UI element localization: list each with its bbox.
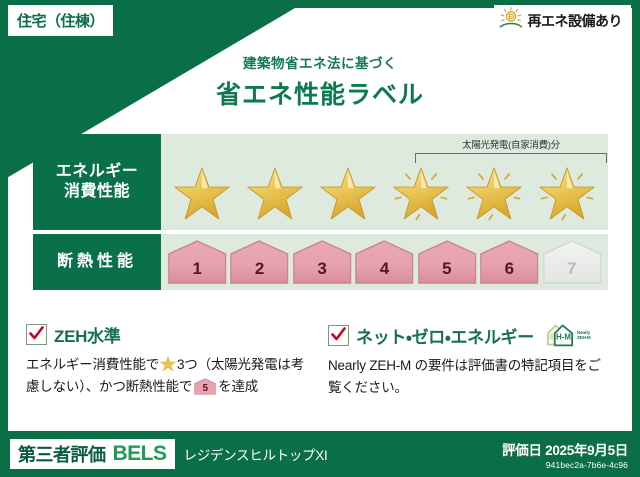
inline-star-icon xyxy=(160,356,176,372)
star-slot-solar xyxy=(536,164,598,224)
building-category-tab: 住宅（住棟） xyxy=(8,5,113,36)
star-icon-solar xyxy=(538,166,596,222)
criteria-section: ZEH水準 エネルギー消費性能で3つ（太陽光発電は考慮しない）、かつ断熱性能で5… xyxy=(26,322,614,399)
energy-performance-row: エネルギー 消費性能 太陽光発電(自家消費)分 xyxy=(33,134,608,230)
evaluation-info: 評価日 2025年9月5日 941bec2a-7b6e-4c96 xyxy=(502,439,628,470)
energy-label-line1: エネルギー xyxy=(56,162,139,182)
solar-annotation-caption: 太陽光発電(自家消費)分 xyxy=(415,137,607,151)
insulation-performance-row: 断熱性能 xyxy=(33,234,608,290)
building-category-label: 住宅（住棟） xyxy=(17,10,104,31)
insulation-level-badge: 6 xyxy=(479,239,539,285)
insulation-rating-area: 1 2 3 xyxy=(161,234,608,290)
criterion-text-suffix: を達成 xyxy=(218,379,258,394)
label-footer: 第三者評価 BELS レジデンスヒルトップXI 評価日 2025年9月5日 94… xyxy=(0,431,640,477)
insulation-level-badge: 4 xyxy=(354,239,414,285)
solar-generation-annotation: 太陽光発電(自家消費)分 xyxy=(415,137,607,163)
criterion-header: ネット・ゼロ・エネルギー H-M Nearly ZEH-M xyxy=(328,322,614,348)
energy-performance-row-label: エネルギー 消費性能 xyxy=(33,134,161,230)
criterion-body: Nearly ZEH-M の要件は評価書の特記項目をご覧ください。 xyxy=(328,355,614,399)
insulation-level-badge: 2 xyxy=(229,239,289,285)
insulation-label: 断熱性能 xyxy=(57,252,137,272)
star-icon xyxy=(173,166,231,222)
criterion-header: ZEH水準 xyxy=(26,322,312,347)
criterion-text-prefix: エネルギー消費性能で xyxy=(26,357,159,372)
bels-jp-label: 第三者評価 xyxy=(18,441,106,467)
inline-house-icon: 5 xyxy=(194,378,216,395)
energy-label-line2: 消費性能 xyxy=(64,182,130,202)
insulation-level-number: 5 xyxy=(417,259,477,279)
star-slot xyxy=(244,164,306,224)
insulation-level-badge: 1 xyxy=(167,239,227,285)
star-icon-solar xyxy=(465,166,523,222)
label-title-block: 建築物省エネ法に基づく 省エネ性能ラベル xyxy=(0,52,640,111)
checkbox-checked-icon xyxy=(328,325,349,346)
zeh-m-house-icon: H-M xyxy=(545,322,575,348)
insulation-level-number: 2 xyxy=(229,259,289,279)
energy-star-rating xyxy=(165,164,604,224)
building-name: レジデンスヒルトップXI xyxy=(184,444,328,464)
performance-panel: エネルギー 消費性能 太陽光発電(自家消費)分 xyxy=(33,134,608,294)
insulation-performance-row-label: 断熱性能 xyxy=(33,234,161,290)
star-slot-solar xyxy=(463,164,525,224)
insulation-level-badge: 3 xyxy=(292,239,352,285)
criterion-zeh-standard: ZEH水準 エネルギー消費性能で3つ（太陽光発電は考慮しない）、かつ断熱性能で5… xyxy=(26,322,312,399)
insulation-level-scale: 1 2 3 xyxy=(167,238,602,286)
criterion-title: ZEH水準 xyxy=(54,322,121,347)
star-slot-solar xyxy=(390,164,452,224)
insulation-level-number: 7 xyxy=(542,259,602,279)
zeh-m-tag-line2: ZEH-M xyxy=(577,335,591,340)
criterion-net-zero-energy: ネット・ゼロ・エネルギー H-M Nearly ZEH-M Nearly xyxy=(328,322,614,399)
insulation-level-number: 6 xyxy=(479,259,539,279)
energy-performance-label: 住宅（住棟） 再エネ設備あり 建築物省エネ法に基づく xyxy=(0,0,640,477)
insulation-level-badge-inactive: 7 xyxy=(542,239,602,285)
criterion-body: エネルギー消費性能で3つ（太陽光発電は考慮しない）、かつ断熱性能で5を達成 xyxy=(26,354,312,398)
insulation-level-badge: 5 xyxy=(417,239,477,285)
criterion-title: ネット・ゼロ・エネルギー xyxy=(356,323,534,348)
star-icon xyxy=(246,166,304,222)
sun-over-hills-icon xyxy=(498,6,524,35)
evaluation-date: 評価日 2025年9月5日 xyxy=(502,439,628,459)
star-icon-solar xyxy=(392,166,450,222)
renewable-energy-badge: 再エネ設備あり xyxy=(494,5,632,36)
svg-text:H-M: H-M xyxy=(556,332,571,341)
nearly-zeh-m-logo: H-M Nearly ZEH-M xyxy=(545,322,591,348)
solar-annotation-bracket xyxy=(415,153,607,163)
checkbox-checked-icon xyxy=(26,324,47,345)
evaluation-id: 941bec2a-7b6e-4c96 xyxy=(502,460,628,470)
renewable-badge-label: 再エネ設備あり xyxy=(528,11,623,31)
insulation-level-number: 3 xyxy=(292,259,352,279)
insulation-level-number: 4 xyxy=(354,259,414,279)
energy-rating-area: 太陽光発電(自家消費)分 xyxy=(161,134,608,230)
inline-house-number: 5 xyxy=(194,381,216,397)
bels-en-label: BELS xyxy=(113,442,167,466)
insulation-level-number: 1 xyxy=(167,259,227,279)
label-main-title: 省エネ性能ラベル xyxy=(0,75,640,111)
star-icon xyxy=(319,166,377,222)
criterion-text-stars: 3つ（太陽光発電 xyxy=(177,357,277,372)
star-slot xyxy=(317,164,379,224)
label-subtitle: 建築物省エネ法に基づく xyxy=(0,52,640,72)
bels-certification-mark: 第三者評価 BELS xyxy=(10,439,175,469)
star-slot xyxy=(171,164,233,224)
